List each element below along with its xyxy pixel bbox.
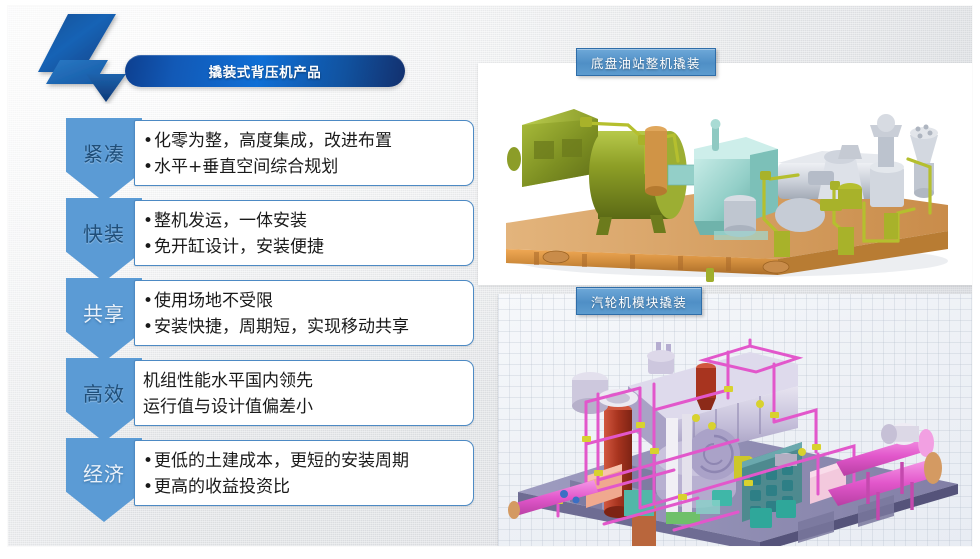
feature-line: •更高的收益投资比: [143, 474, 465, 500]
page-title: 撬装式背压机产品: [209, 61, 322, 81]
feature-line: •免开缸设计，安装便捷: [143, 234, 465, 260]
feature-line: 运行值与设计值偏差小: [143, 394, 465, 420]
slide-canvas: 撬装式背压机产品 紧凑 •化零为整，高度集成，改进布置 •水平+垂直空间综合规划…: [8, 6, 972, 546]
feature-textbox-4: •更低的土建成本，更短的安装周期 •更高的收益投资比: [134, 440, 474, 506]
feature-label-1: 快装: [83, 218, 125, 247]
feature-chevron-4[interactable]: 经济: [66, 438, 142, 522]
feature-line: •使用场地不受限: [143, 288, 465, 314]
feature-text: 运行值与设计值偏差小: [143, 397, 313, 417]
image-caption-top: 底盘油站整机撬装: [576, 48, 716, 76]
company-parallelogram-logo-icon: [30, 12, 142, 104]
feature-label-2: 共享: [83, 298, 125, 327]
feature-textbox-3: 机组性能水平国内领先 运行值与设计值偏差小: [134, 360, 474, 426]
feature-label-0: 紧凑: [83, 138, 125, 167]
turbine-module-skid-render: [498, 294, 972, 546]
feature-text: 使用场地不受限: [154, 291, 273, 311]
feature-label-3: 高效: [83, 378, 125, 407]
feature-text: 免开缸设计，安装便捷: [154, 237, 324, 257]
slide-title-banner: 撬装式背压机产品: [125, 55, 405, 87]
caption-text: 汽轮机模块撬装: [591, 292, 687, 311]
feature-row: 经济 •更低的土建成本，更短的安装周期 •更高的收益投资比: [66, 438, 478, 511]
product-image-top: [478, 63, 972, 285]
feature-row: 共享 •使用场地不受限 •安装快捷，周期短，实现移动共享: [66, 278, 478, 351]
feature-line: •更低的土建成本，更短的安装周期: [143, 448, 465, 474]
image-caption-bottom: 汽轮机模块撬装: [576, 287, 702, 315]
feature-line: •化零为整，高度集成，改进布置: [143, 128, 465, 154]
feature-row: 快装 •整机发运，一体安装 •免开缸设计，安装便捷: [66, 198, 478, 271]
feature-row: 高效 机组性能水平国内领先 运行值与设计值偏差小: [66, 358, 478, 431]
feature-text: 更低的土建成本，更短的安装周期: [154, 451, 409, 471]
feature-line: •水平+垂直空间综合规划: [143, 154, 465, 180]
feature-text: 水平+垂直空间综合规划: [154, 157, 338, 177]
feature-textbox-0: •化零为整，高度集成，改进布置 •水平+垂直空间综合规划: [134, 120, 474, 186]
feature-textbox-1: •整机发运，一体安装 •免开缸设计，安装便捷: [134, 200, 474, 266]
skid-turbine-generator-render: [478, 63, 972, 285]
feature-line: 机组性能水平国内领先: [143, 368, 465, 394]
feature-chevron-3[interactable]: 高效: [66, 358, 142, 442]
feature-text: 整机发运，一体安装: [154, 211, 307, 231]
feature-text: 更高的收益投资比: [154, 477, 290, 497]
feature-textbox-2: •使用场地不受限 •安装快捷，周期短，实现移动共享: [134, 280, 474, 346]
caption-text: 底盘油站整机撬装: [591, 53, 701, 72]
feature-chevron-1[interactable]: 快装: [66, 198, 142, 282]
feature-chevron-2[interactable]: 共享: [66, 278, 142, 362]
feature-text: 机组性能水平国内领先: [143, 371, 313, 391]
feature-row: 紧凑 •化零为整，高度集成，改进布置 •水平+垂直空间综合规划: [66, 118, 478, 191]
feature-list: 紧凑 •化零为整，高度集成，改进布置 •水平+垂直空间综合规划 快装 •整机发运…: [66, 118, 478, 511]
feature-line: •整机发运，一体安装: [143, 208, 465, 234]
feature-label-4: 经济: [83, 458, 125, 487]
feature-line: •安装快捷，周期短，实现移动共享: [143, 314, 465, 340]
feature-text: 化零为整，高度集成，改进布置: [154, 131, 392, 151]
feature-chevron-0[interactable]: 紧凑: [66, 118, 142, 202]
product-image-bottom: [498, 294, 972, 546]
feature-text: 安装快捷，周期短，实现移动共享: [154, 317, 409, 337]
